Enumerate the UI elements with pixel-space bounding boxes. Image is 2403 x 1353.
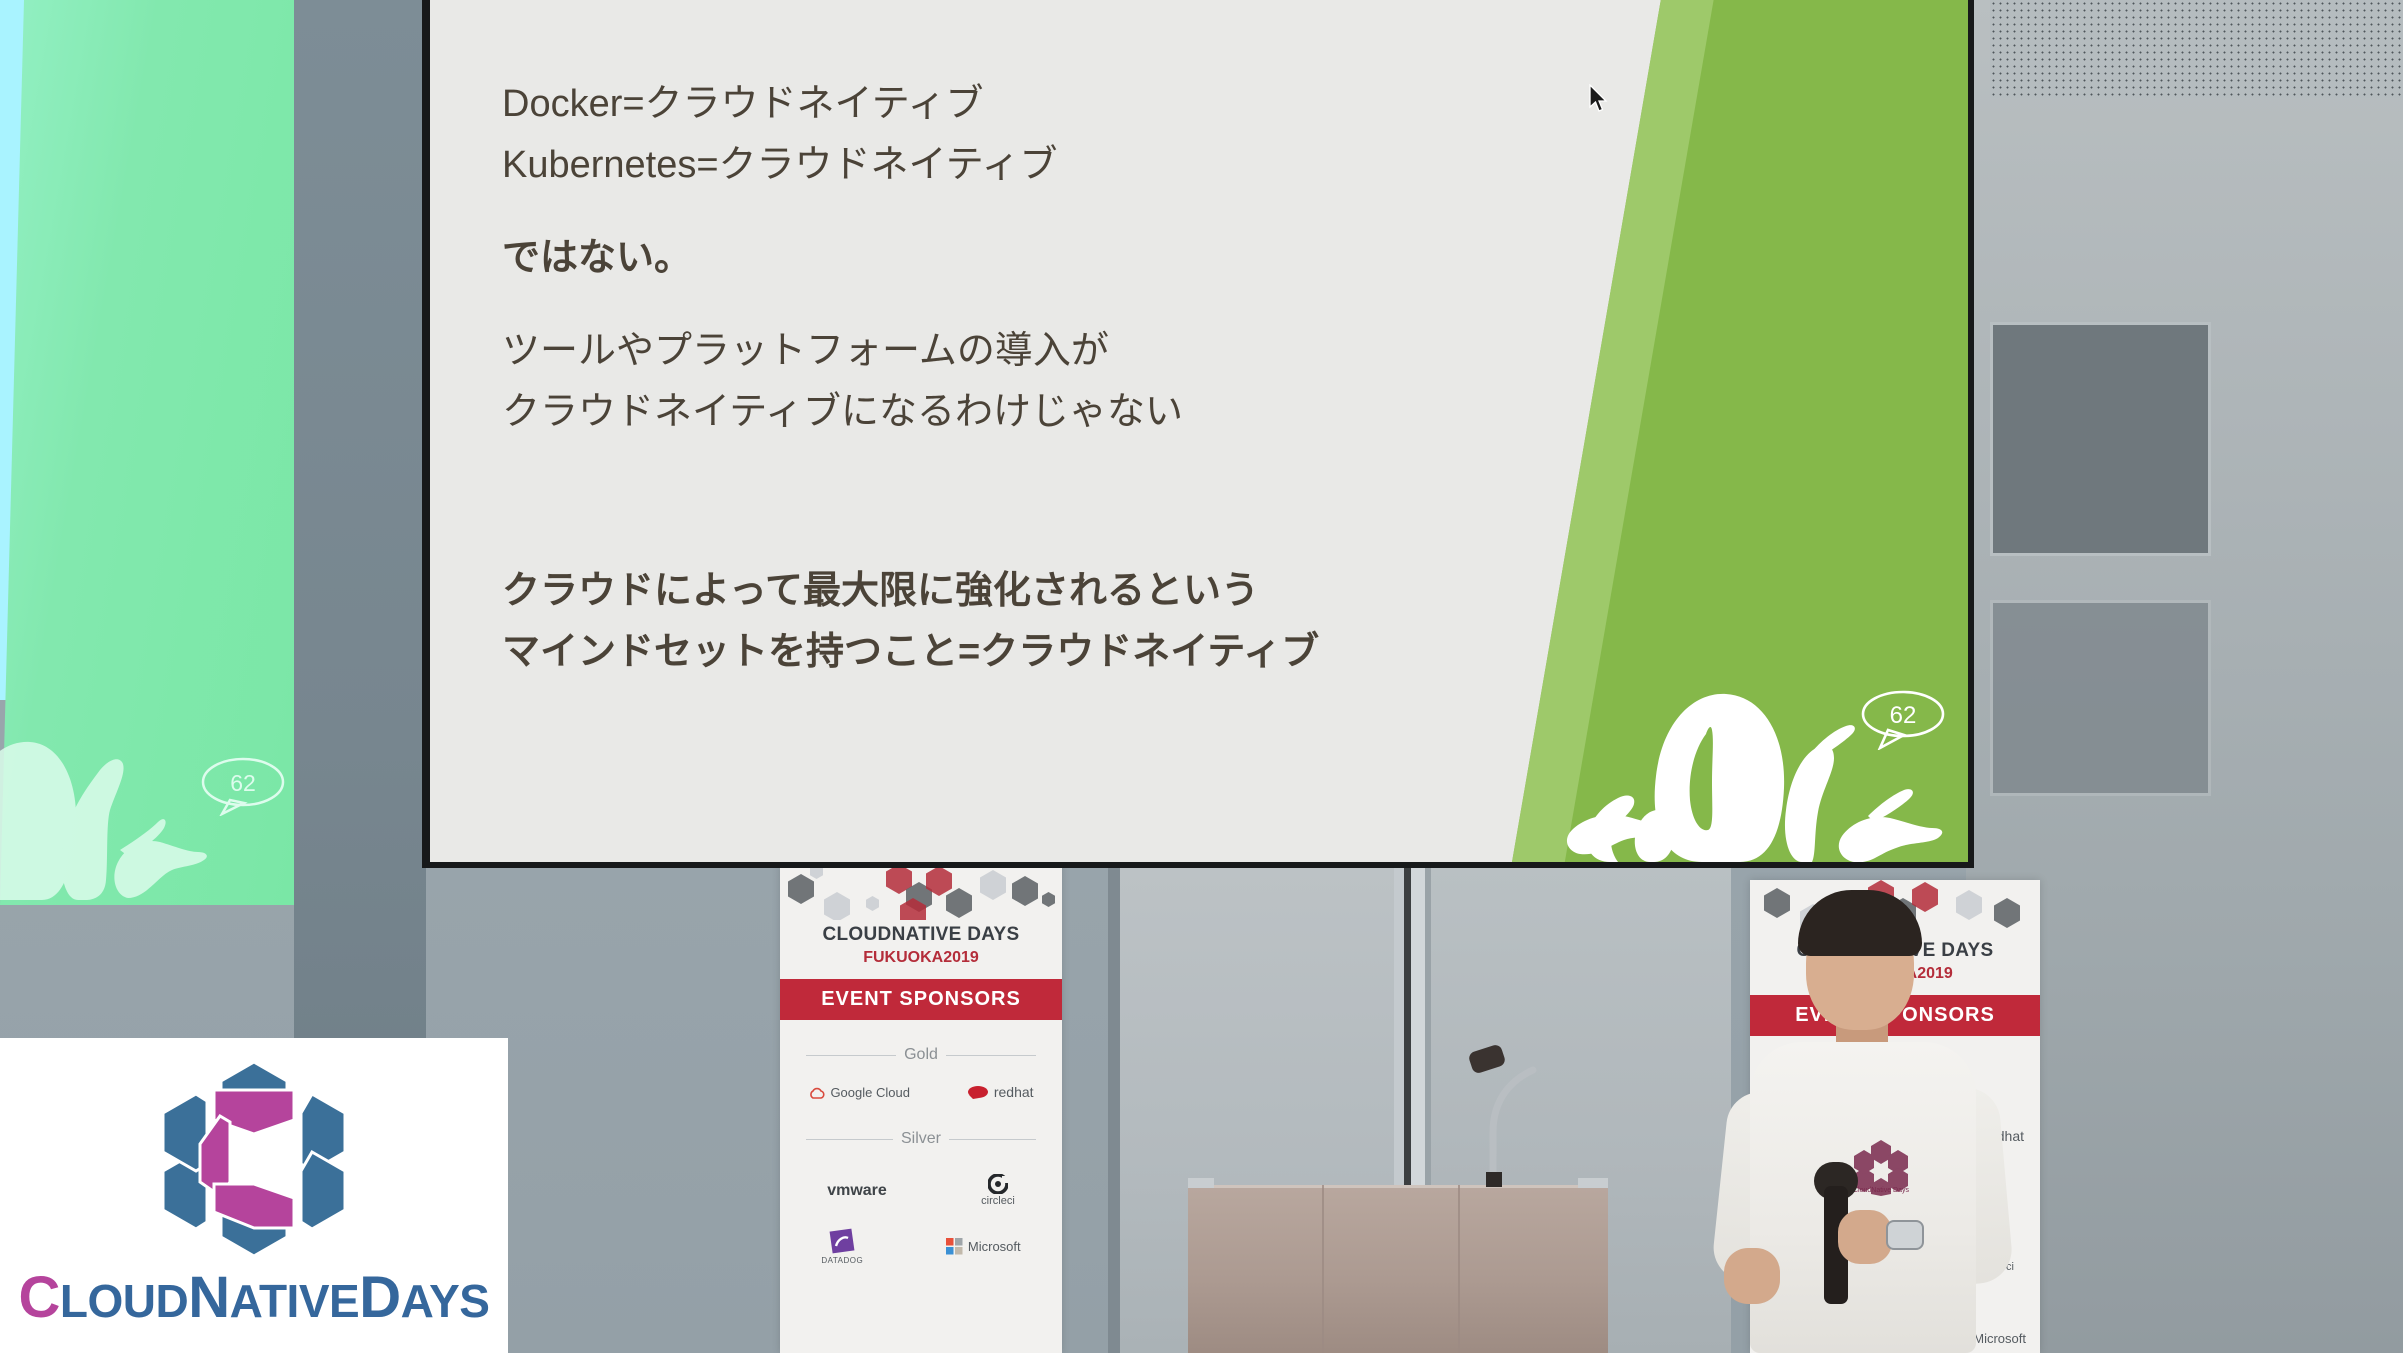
wordmark-c: C	[19, 1265, 60, 1330]
tier-gold-logos: Google Cloud redhat	[780, 1084, 1062, 1100]
svg-text:CloudNative Days: CloudNative Days	[1853, 1187, 1910, 1194]
wordmark-loud: LOUD	[60, 1275, 188, 1327]
lectern-cap-right	[1578, 1178, 1608, 1188]
cloudnativedays-hex-mark	[154, 1060, 354, 1258]
presenter-hair	[1798, 890, 1922, 956]
cloudnativedays-wordmark: CLOUDNATIVEDAYS	[19, 1264, 490, 1331]
slide-spacer-2	[502, 289, 1562, 321]
google-cloud-logo: Google Cloud	[808, 1085, 910, 1100]
vmware-logo: vmware	[827, 1182, 887, 1200]
slide-line-5: クラウドネイティブになるわけじゃない	[502, 382, 1562, 443]
banner-brand-line: CLOUDNATIVE DAYS	[780, 924, 1062, 946]
tier-gold-label: Gold	[904, 1046, 938, 1064]
presenter: CloudNative Days	[1718, 880, 2008, 1353]
slide-line-3: ではない。	[502, 228, 1562, 289]
wordmark-ays: AYS	[401, 1275, 490, 1327]
presenter-wristwatch	[1886, 1220, 1924, 1250]
mouse-pointer-icon	[1588, 84, 1610, 114]
datadog-label: DATADOG	[821, 1256, 863, 1265]
tier-silver-logos-row2: DATADOG Microsoft	[780, 1227, 1062, 1265]
cloudnativedays-watermark: CLOUDNATIVEDAYS	[0, 1038, 508, 1353]
redhat-logo: redhat	[967, 1084, 1034, 1100]
vmware-label: vmware	[827, 1182, 887, 1200]
secondary-page-number: 62	[230, 770, 256, 796]
banner-brand-days: DAYS	[967, 924, 1019, 945]
wordmark-ative: ATIVE	[230, 1275, 360, 1327]
perforated-ceiling-panel	[1990, 0, 2403, 98]
tier-silver-label: Silver	[901, 1130, 941, 1148]
slide-line-2: Kubernetes=クラウドネイティブ	[502, 135, 1562, 196]
slide-spacer-1	[502, 196, 1562, 228]
wordmark-n: N	[188, 1265, 229, 1330]
banner-sponsors-header: EVENT SPONSORS	[780, 979, 1062, 1020]
banner-brand-cloud: CLOUD	[823, 924, 892, 945]
banner-brand-native: NATIVE	[892, 924, 962, 945]
tier-gold: Gold	[806, 1046, 1036, 1064]
redhat-label: redhat	[994, 1084, 1034, 1100]
wordmark-d: D	[359, 1265, 400, 1330]
lectern-seam-1	[1322, 1185, 1324, 1353]
slide-line-4: ツールやプラットフォームの導入が	[502, 321, 1562, 382]
circleci-logo: circleci	[981, 1174, 1015, 1207]
presenter-right-hand	[1838, 1210, 1892, 1264]
door-frame-left	[1108, 866, 1120, 1353]
lectern	[1188, 1185, 1608, 1353]
gooseneck-microphone	[1485, 1062, 1543, 1187]
google-cloud-label: Google Cloud	[830, 1085, 910, 1100]
presenter-left-hand	[1724, 1248, 1780, 1304]
tier-silver: Silver	[806, 1130, 1036, 1148]
banner-event-name: FUKUOKA2019	[780, 949, 1062, 967]
presenter-tshirt	[1750, 1042, 1976, 1353]
lectern-cap-left	[1188, 1178, 1214, 1188]
microsoft-logo: Microsoft	[946, 1238, 1021, 1255]
screen-capture-frame: 62 CLOUDNATIVE	[0, 0, 2403, 1353]
slide-page-bubble: 62	[1860, 690, 1946, 750]
presentation-slide: Docker=クラウドネイティブ Kubernetes=クラウドネイティブ では…	[430, 0, 1968, 862]
circleci-label: circleci	[981, 1195, 1015, 1207]
slide-text-block: Docker=クラウドネイティブ Kubernetes=クラウドネイティブ では…	[502, 74, 1562, 683]
banner-hex-pattern	[780, 862, 1062, 920]
lectern-seam-2	[1458, 1185, 1460, 1353]
secondary-page-bubble: 62	[200, 756, 286, 816]
slide-line-6: クラウドによって最大限に強化されるという	[502, 561, 1562, 622]
tier-silver-logos-row1: vmware circleci	[780, 1174, 1062, 1207]
microsoft-label: Microsoft	[968, 1239, 1021, 1254]
slide-spacer-3	[502, 443, 1562, 561]
slide-line-1: Docker=クラウドネイティブ	[502, 74, 1562, 135]
sponsor-banner-left: CLOUDNATIVE DAYS FUKUOKA2019 EVENT SPONS…	[780, 862, 1062, 1353]
wall-panel-upper	[1990, 322, 2211, 556]
wall-panel-lower	[1990, 600, 2211, 796]
slide-line-7: マインドセットを持つこと=クラウドネイティブ	[502, 622, 1562, 683]
slide-page-number: 62	[1890, 702, 1917, 729]
datadog-logo: DATADOG	[821, 1227, 863, 1265]
